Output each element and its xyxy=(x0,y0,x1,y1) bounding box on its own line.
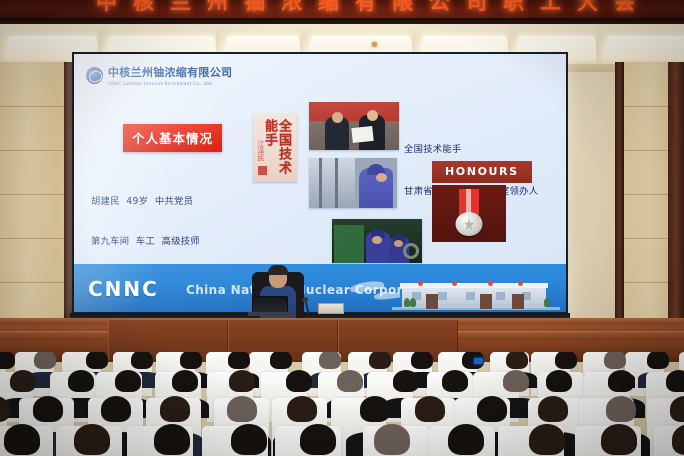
worker-face xyxy=(394,240,403,247)
slide-section-title: 个人基本情况 xyxy=(123,124,222,152)
audience-member-head xyxy=(300,424,336,455)
screenshot-root: 中核兰州铀浓缩有限公司职工大会 中核兰州铀浓缩有限公司 CNNC Lanzhou… xyxy=(0,0,684,456)
plant-tree-2 xyxy=(544,298,550,307)
audience-member-head xyxy=(506,352,528,369)
worker-face xyxy=(372,236,382,244)
audience-member-head xyxy=(101,396,131,422)
audience-member-head xyxy=(131,352,153,369)
honours-badge: HONOURS xyxy=(432,161,532,183)
machine-wheel-icon xyxy=(403,243,419,259)
worker-face xyxy=(376,173,387,182)
laptop xyxy=(248,296,292,316)
person-head xyxy=(367,110,378,121)
plant-flag-0 xyxy=(418,281,423,286)
nameplate xyxy=(318,303,344,314)
audience-member-head xyxy=(231,424,267,455)
machine-body xyxy=(334,225,364,263)
led-banner: 中核兰州铀浓缩有限公司职工大会 xyxy=(0,0,684,20)
workshop-photo-1 xyxy=(309,158,397,208)
audience-member-head xyxy=(393,370,419,392)
audience-member-head xyxy=(286,370,312,392)
plant-window-2 xyxy=(466,292,475,300)
audience-member-head xyxy=(0,352,15,369)
audience-member-head xyxy=(546,370,572,392)
plant-flag-1 xyxy=(452,281,457,286)
ceiling-light-panel xyxy=(602,36,684,59)
audience-member-head xyxy=(448,424,484,455)
speaker-hair xyxy=(268,265,288,275)
corner-wood-column xyxy=(668,62,684,362)
audience-member-head xyxy=(34,352,56,369)
audience-member-head xyxy=(608,370,634,392)
laptop-screen xyxy=(252,296,288,313)
audience-member-head xyxy=(415,396,445,422)
audience-member-head xyxy=(160,396,190,422)
audience-member-head xyxy=(606,396,636,422)
certificate-seal-icon xyxy=(258,166,267,175)
calligraphy-certificate-photo: 全国技术能手 江泽民 xyxy=(253,114,297,182)
audience-member-head xyxy=(374,424,410,455)
audience-member-head xyxy=(227,396,257,422)
wall-panel-seam xyxy=(0,150,64,151)
wall-panel-left xyxy=(0,62,64,362)
plant-flag-3 xyxy=(518,281,523,286)
audience-member-head xyxy=(538,396,568,422)
bio-line: 第九车间 车工 高级技师 xyxy=(91,235,254,248)
slide-logo: 中核兰州铀浓缩有限公司 CNNC Lanzhou Uranium Enrichm… xyxy=(86,64,232,86)
audience-member-head xyxy=(228,352,250,369)
audience-member-head xyxy=(68,370,94,392)
audience-member-head xyxy=(555,352,577,369)
workshop-photo-2 xyxy=(332,219,422,263)
wall-panel-seam xyxy=(0,106,64,107)
audience-member-head xyxy=(337,370,363,392)
plant-door-1 xyxy=(480,294,492,309)
plant-flag-2 xyxy=(488,281,493,286)
led-banner-text: 中核兰州铀浓缩有限公司职工大会 xyxy=(96,0,616,16)
audience-member-head xyxy=(180,352,202,369)
plant-tree-1 xyxy=(410,298,416,307)
plant-illustration xyxy=(392,278,560,310)
audience-member-head xyxy=(369,352,391,369)
audience-member-head xyxy=(287,396,317,422)
audience-member-head xyxy=(154,424,190,455)
ceiling-spot-icon xyxy=(372,42,377,47)
audience-member-head xyxy=(503,370,529,392)
person-head xyxy=(332,112,343,123)
machine-rail xyxy=(319,158,322,208)
certificate-paper-icon xyxy=(351,126,373,143)
medal-photo xyxy=(432,185,506,242)
bio-line: 胡建民 49岁 中共党员 xyxy=(91,195,254,208)
audience-area xyxy=(0,352,684,456)
audience-member-head xyxy=(411,352,433,369)
phone-screen-icon xyxy=(474,358,483,364)
medal-disc-icon xyxy=(456,212,483,236)
projection-screen: 中核兰州铀浓缩有限公司 CNNC Lanzhou Uranium Enrichm… xyxy=(72,52,568,314)
laptop-base xyxy=(248,312,292,316)
plant-window-1 xyxy=(438,292,447,300)
wall-panel-seam xyxy=(0,238,64,239)
wall-trim-right xyxy=(615,62,624,362)
audience-member-head xyxy=(33,396,63,422)
audience-member-head xyxy=(360,396,390,422)
audience-member-head xyxy=(529,424,565,455)
audience-member-head xyxy=(115,370,141,392)
audience-member-head xyxy=(319,352,341,369)
plant-door-2 xyxy=(512,294,524,309)
machine-rail xyxy=(335,158,338,208)
plant-door-0 xyxy=(426,294,438,309)
audience-member-head xyxy=(10,370,36,392)
wall-panel-seam xyxy=(0,282,64,283)
audience-member-head xyxy=(270,352,292,369)
logo-english-name: CNNC Lanzhou Uranium Enrichment Co., Ltd… xyxy=(108,81,232,86)
audience-member-head xyxy=(74,424,110,455)
cnnc-wordmark: CNNC xyxy=(88,277,159,301)
award-ceremony-photo xyxy=(309,102,399,150)
machine-body xyxy=(309,158,355,208)
audience-member-head xyxy=(477,396,507,422)
audience-member-head xyxy=(647,352,669,369)
caption-line: 全国技术能手 xyxy=(404,143,538,157)
audience-member-head xyxy=(172,370,198,392)
audience-member-head xyxy=(666,370,684,392)
audience-member-head xyxy=(442,370,468,392)
wall-panel-seam xyxy=(0,194,64,195)
audience-member-head xyxy=(601,424,637,455)
plant-window-3 xyxy=(496,292,505,300)
audience-member-head xyxy=(86,352,108,369)
audience-member-head xyxy=(229,370,255,392)
certificate-signature-text: 江泽民 xyxy=(257,140,265,161)
logo-chinese-name: 中核兰州铀浓缩有限公司 xyxy=(108,64,232,80)
audience-member-head xyxy=(604,352,626,369)
audience-member-head xyxy=(4,424,40,455)
company-emblem-icon xyxy=(86,67,103,84)
